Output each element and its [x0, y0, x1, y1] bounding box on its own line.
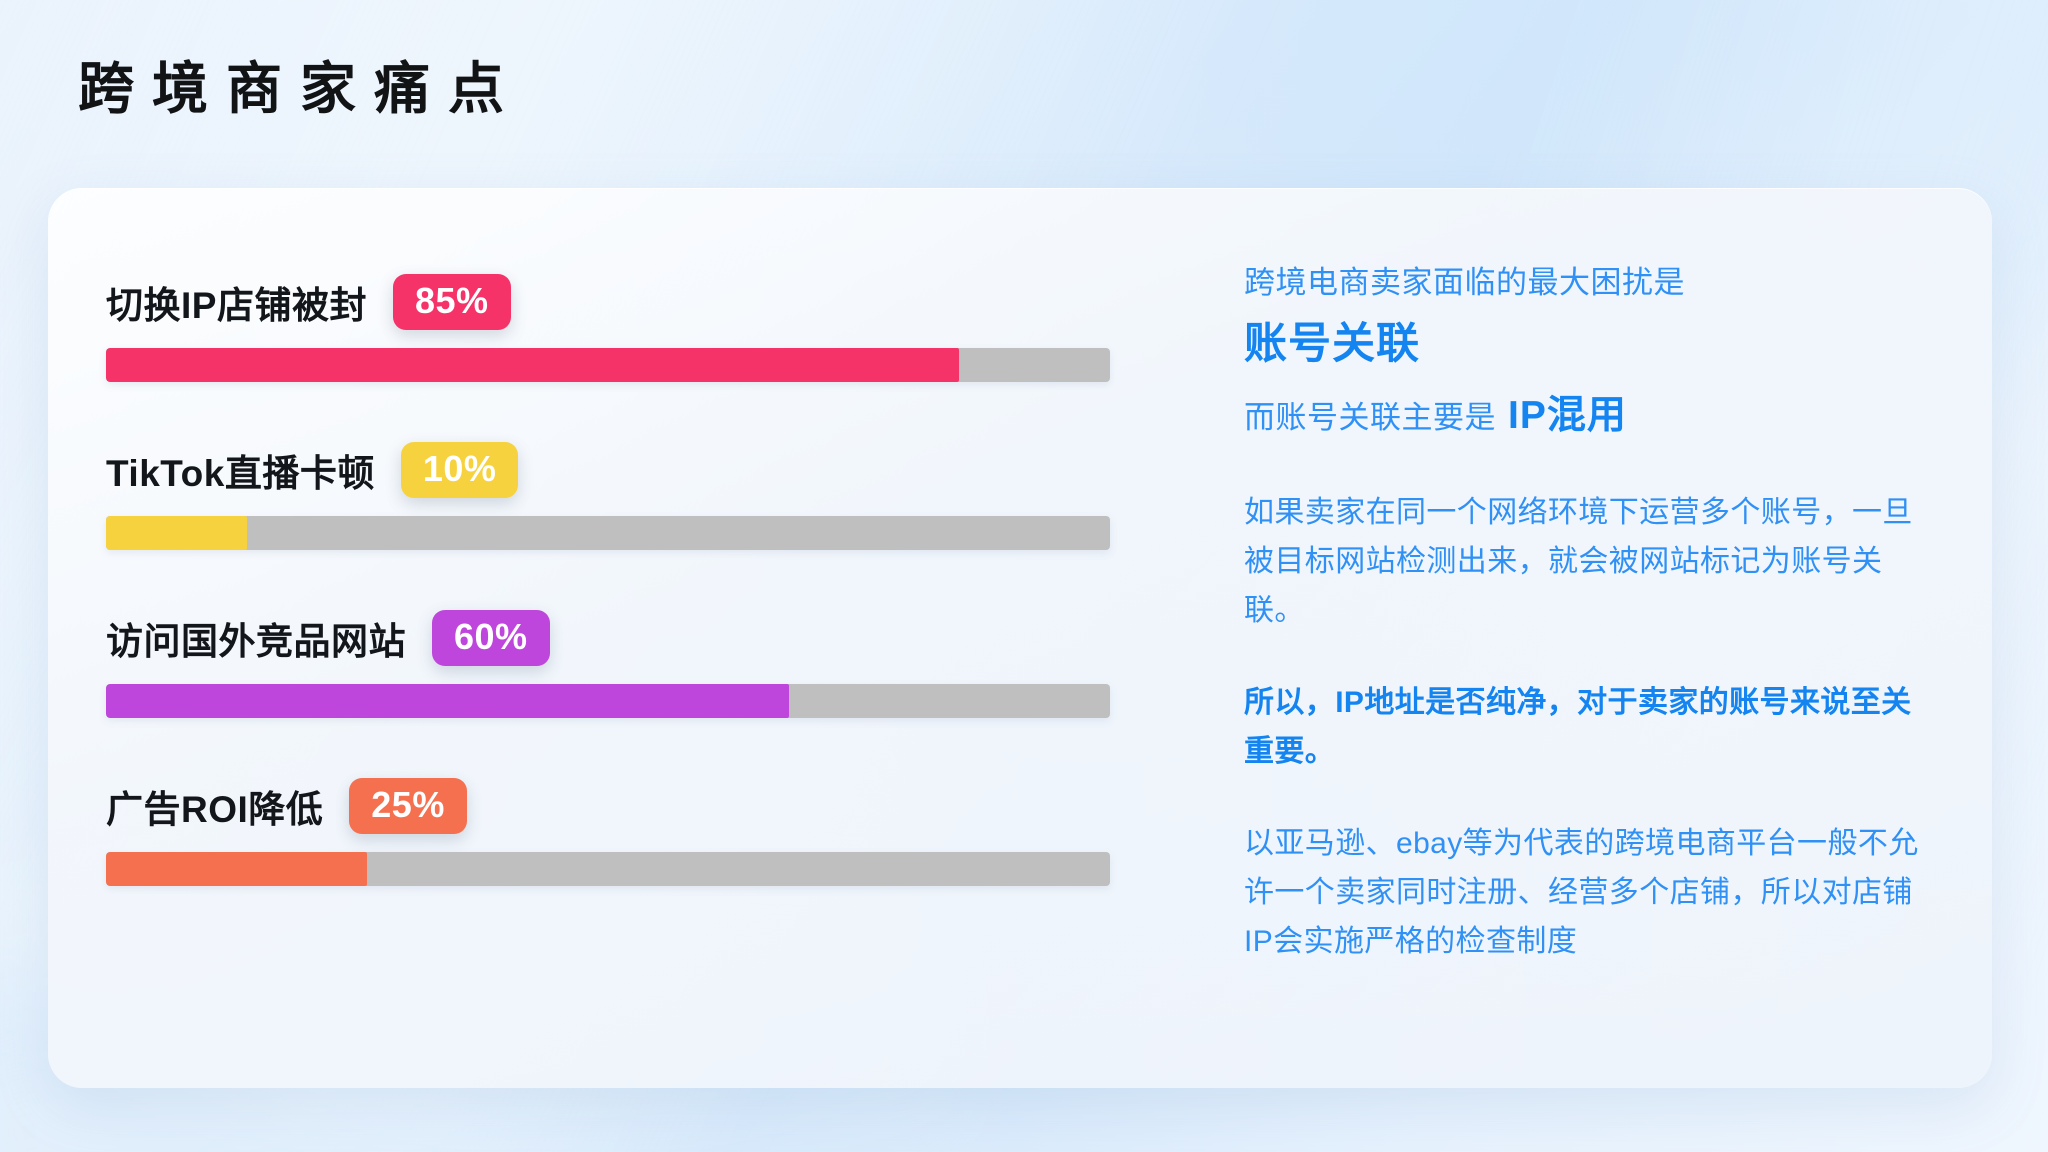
- bar-fill: [106, 348, 959, 382]
- bar-item: 切换IP店铺被封 85%: [106, 266, 1208, 382]
- paragraph-association: 如果卖家在同一个网络环境下运营多个账号，一旦被目标网站检测出来，就会被网站标记为…: [1244, 489, 1932, 635]
- lede-secondary: 而账号关联主要是IP混用: [1244, 387, 1932, 446]
- lede-secondary-highlight: IP混用: [1508, 394, 1627, 437]
- bar-header: 切换IP店铺被封 85%: [106, 266, 1208, 338]
- bar-item: 广告ROI降低 25%: [106, 770, 1208, 886]
- explanation-panel: 跨境电商卖家面临的最大困扰是 账号关联 而账号关联主要是IP混用 如果卖家在同一…: [1208, 188, 1992, 1088]
- lede-secondary-prefix: 而账号关联主要是: [1244, 400, 1496, 435]
- bar-percent-badge: 85%: [393, 274, 511, 330]
- bar-track: [106, 684, 1110, 718]
- bar-track: [106, 516, 1110, 550]
- bar-percent-badge: 60%: [432, 610, 550, 666]
- bar-label: 切换IP店铺被封: [106, 275, 367, 329]
- lede-line: 跨境电商卖家面临的最大困扰是: [1244, 260, 1932, 307]
- lede-keyword: 账号关联: [1244, 313, 1932, 375]
- bar-header: TikTok直播卡顿 10%: [106, 434, 1208, 506]
- content-card: 切换IP店铺被封 85% TikTok直播卡顿 10% 访问国外竞品网站 60%: [48, 188, 1992, 1088]
- bar-track: [106, 348, 1110, 382]
- bar-label: 广告ROI降低: [106, 779, 323, 833]
- pain-point-chart: 切换IP店铺被封 85% TikTok直播卡顿 10% 访问国外竞品网站 60%: [48, 188, 1208, 1088]
- bar-fill: [106, 516, 247, 550]
- bar-percent-badge: 25%: [349, 778, 467, 834]
- bar-percent-badge: 10%: [401, 442, 519, 498]
- bar-header: 广告ROI降低 25%: [106, 770, 1208, 842]
- bar-fill: [106, 852, 367, 886]
- bar-header: 访问国外竞品网站 60%: [106, 602, 1208, 674]
- paragraph-platform-rules: 以亚马逊、ebay等为代表的跨境电商平台一般不允许一个卖家同时注册、经营多个店铺…: [1244, 820, 1932, 966]
- bar-track: [106, 852, 1110, 886]
- bar-label: 访问国外竞品网站: [106, 611, 406, 665]
- bar-item: 访问国外竞品网站 60%: [106, 602, 1208, 718]
- paragraph-ip-purity: 所以，IP地址是否纯净，对于卖家的账号来说至关重要。: [1244, 679, 1932, 776]
- page-title: 跨境商家痛点: [78, 58, 522, 120]
- bar-fill: [106, 684, 789, 718]
- bar-item: TikTok直播卡顿 10%: [106, 434, 1208, 550]
- bar-label: TikTok直播卡顿: [106, 443, 375, 497]
